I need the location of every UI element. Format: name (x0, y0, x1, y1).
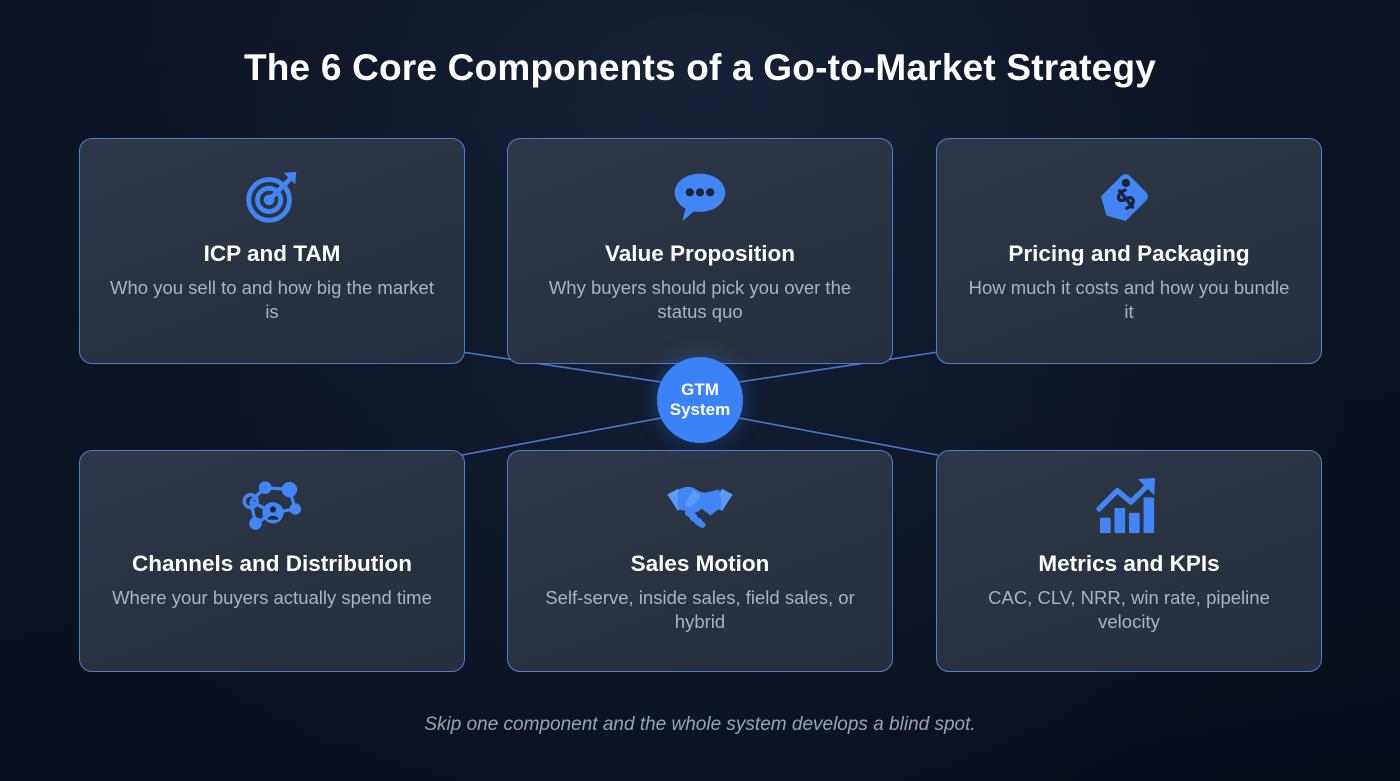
card-title: Value Proposition (605, 241, 795, 267)
target-icon (241, 167, 303, 227)
page-title: The 6 Core Components of a Go-to-Market … (0, 47, 1400, 89)
handshake-icon (665, 477, 735, 537)
speech-bubble-icon (670, 167, 730, 227)
network-nodes-icon (239, 477, 305, 537)
card-description: Self-serve, inside sales, field sales, o… (513, 586, 887, 635)
card-description: CAC, CLV, NRR, win rate, pipeline veloci… (942, 586, 1316, 635)
card-icp-and-tam[interactable]: ICP and TAM Who you sell to and how big … (79, 138, 465, 364)
card-pricing-and-packaging[interactable]: Pricing and Packaging How much it costs … (936, 138, 1322, 364)
card-description: Where your buyers actually spend time (90, 586, 454, 610)
infographic-canvas: The 6 Core Components of a Go-to-Market … (0, 0, 1400, 781)
card-title: Channels and Distribution (132, 551, 412, 577)
gtm-system-hub[interactable]: GTM System (657, 357, 743, 443)
hub-label-line2: System (670, 400, 730, 420)
card-description: Who you sell to and how big the market i… (85, 276, 459, 325)
card-title: Pricing and Packaging (1008, 241, 1249, 267)
card-value-proposition[interactable]: Value Proposition Why buyers should pick… (507, 138, 893, 364)
hub-label-line1: GTM (681, 380, 719, 400)
card-channels-and-distribution[interactable]: Channels and Distribution Where your buy… (79, 450, 465, 672)
bar-chart-growth-icon (1096, 477, 1162, 537)
footer-note: Skip one component and the whole system … (0, 714, 1400, 736)
price-tag-icon (1098, 167, 1160, 227)
card-description: How much it costs and how you bundle it (942, 276, 1316, 325)
card-sales-motion[interactable]: Sales Motion Self-serve, inside sales, f… (507, 450, 893, 672)
card-title: ICP and TAM (204, 241, 341, 267)
card-metrics-and-kpis[interactable]: Metrics and KPIs CAC, CLV, NRR, win rate… (936, 450, 1322, 672)
card-description: Why buyers should pick you over the stat… (513, 276, 887, 325)
card-title: Metrics and KPIs (1038, 551, 1219, 577)
card-title: Sales Motion (631, 551, 770, 577)
